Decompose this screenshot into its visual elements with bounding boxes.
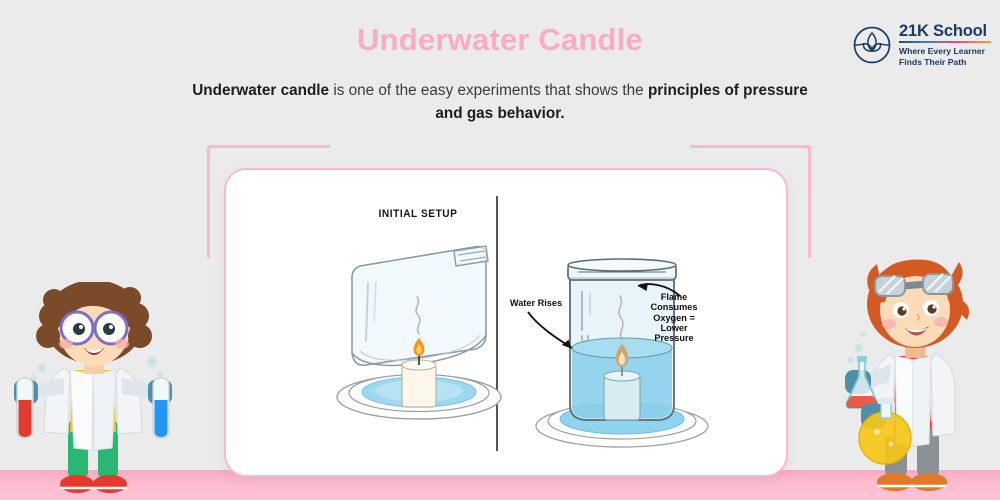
diagram-card: INITIAL SETUP bbox=[224, 168, 788, 477]
left-panel-label: INITIAL SETUP bbox=[344, 208, 491, 220]
boy-scientist-character bbox=[833, 252, 1000, 500]
logo-tagline-line1: Where Every Learner bbox=[899, 46, 991, 56]
poster-canvas: Underwater Candle Underwater candle is o… bbox=[0, 0, 1000, 500]
subtitle-middle: is one of the easy experiments that show… bbox=[329, 82, 648, 99]
girl-scientist-character bbox=[6, 282, 181, 500]
subtitle-text: Underwater candle is one of the easy exp… bbox=[185, 79, 815, 126]
logo-gradient-rule bbox=[899, 41, 991, 43]
logo-name: 21K School bbox=[899, 23, 991, 40]
lotus-circle-icon bbox=[852, 25, 892, 65]
logo-text-block: 21K School Where Every Learner Finds The… bbox=[899, 23, 991, 68]
logo-tagline-line2: Finds Their Path bbox=[899, 57, 991, 67]
page-title: Underwater Candle bbox=[0, 22, 1000, 58]
subtitle-bold-lead: Underwater candle bbox=[192, 82, 329, 99]
brand-logo[interactable]: 21K School Where Every Learner Finds The… bbox=[852, 20, 992, 70]
